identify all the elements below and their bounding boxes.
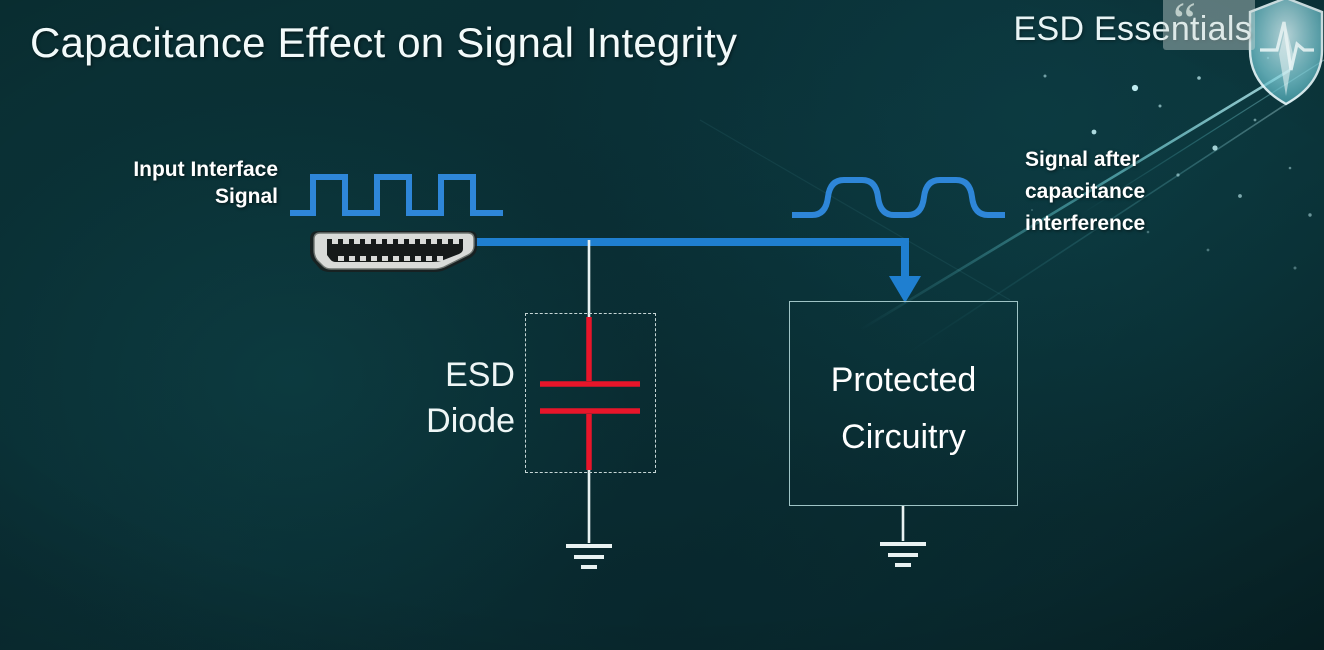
ground-symbol-esd — [566, 546, 612, 567]
input-signal-label: Input InterfaceSignal — [60, 156, 278, 210]
watermark-overlay: “ — [1163, 0, 1255, 50]
vignette — [0, 0, 1324, 650]
signal-trace — [474, 242, 921, 303]
shield-pulse-icon — [1250, 0, 1322, 104]
square-wave-rounded — [792, 180, 1005, 215]
esd-dashed-outline — [525, 313, 656, 473]
hdmi-pins — [332, 239, 459, 261]
square-wave-clean — [290, 177, 503, 213]
protected-circuitry-label: ProtectedCircuitry — [789, 352, 1018, 466]
page-title: Capacitance Effect on Signal Integrity — [30, 19, 737, 67]
output-signal-label: Signal aftercapacitanceinterference — [1025, 144, 1275, 240]
quote-glyph-icon: “ — [1173, 0, 1196, 48]
slide-canvas: ProtectedCircuitry ESDDiode Input Interf… — [0, 0, 1324, 650]
ground-symbol-circuitry — [880, 544, 926, 565]
hdmi-connector — [310, 231, 477, 272]
esd-diode-label: ESDDiode — [395, 352, 515, 444]
background-decoration — [0, 0, 1324, 650]
